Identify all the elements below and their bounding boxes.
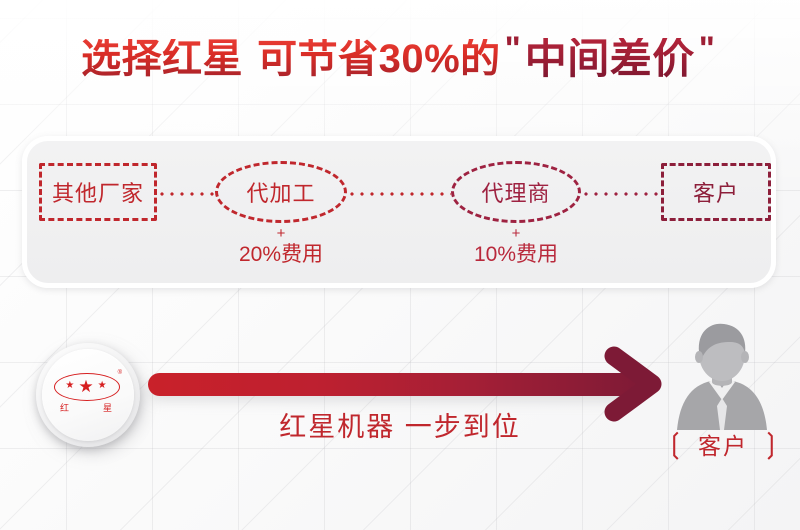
headline-part2: 可节省30%的 <box>257 39 501 79</box>
logo-stars-icon: ★ ★ ★ <box>54 374 118 398</box>
fee-oem: + 20%费用 <box>221 225 341 267</box>
fee-agent: + 10%费用 <box>456 225 576 267</box>
star-center-icon: ★ <box>78 378 93 395</box>
customer-label: ❲ 客户 ❳ <box>648 427 798 461</box>
quote-open-icon: " <box>505 30 521 69</box>
node-agent-label: 代理商 <box>481 176 550 208</box>
connector-2 <box>347 192 451 196</box>
star-left-icon: ★ <box>65 381 74 391</box>
chain-diagram: 其他厂家 代加工 代理商 客户 + 20%费用 + 10%费用 <box>27 141 781 283</box>
supply-chain-panel: 其他厂家 代加工 代理商 客户 + 20%费用 + 10%费用 <box>22 136 776 288</box>
bracket-left-icon: ❲ <box>664 430 687 458</box>
headline-emphasis: 中间差价 <box>525 38 695 80</box>
node-other-factory[interactable]: 其他厂家 <box>39 163 157 221</box>
customer-label-text: 客户 <box>698 427 748 461</box>
logo-word-left: 红 <box>60 401 69 414</box>
headline: 选择红星 可节省30%的 " 中间差价 " <box>0 28 800 90</box>
arrow-shaft <box>148 373 648 396</box>
connector-3 <box>581 192 661 196</box>
logo-inner-disc: ★ ★ ★ ® 红 星 <box>42 349 134 441</box>
arrow-head-icon <box>600 346 676 422</box>
bracket-right-icon: ❳ <box>759 430 782 458</box>
connector-1 <box>157 192 215 196</box>
customer-avatar-icon <box>668 318 776 430</box>
tagline: 红星机器 一步到位 <box>250 405 550 444</box>
promo-poster: 选择红星 可节省30%的 " 中间差价 " 其他厂家 代加工 代理商 客户 <box>0 0 800 530</box>
headline-part1: 选择红星 <box>81 39 243 79</box>
logo-outer-ring: ★ ★ ★ ® 红 星 <box>36 343 140 447</box>
node-customer[interactable]: 客户 <box>661 163 771 221</box>
registered-mark-icon: ® <box>118 370 122 376</box>
logo-word-right: 星 <box>103 401 112 414</box>
fee-agent-plus: + <box>456 225 576 242</box>
logo-wordmark: 红 星 <box>54 401 118 414</box>
node-oem-processing-label: 代加工 <box>246 176 315 208</box>
node-other-factory-label: 其他厂家 <box>52 176 144 208</box>
fee-oem-amount: 20%费用 <box>221 243 341 267</box>
fee-oem-plus: + <box>221 225 341 242</box>
fee-agent-amount: 10%费用 <box>456 243 576 267</box>
quote-close-icon: " <box>699 30 715 69</box>
star-right-icon: ★ <box>98 381 107 391</box>
node-agent[interactable]: 代理商 <box>451 161 581 223</box>
node-oem-processing[interactable]: 代加工 <box>215 161 347 223</box>
logo-mark: ★ ★ ★ ® 红 星 <box>50 369 126 421</box>
node-customer-label: 客户 <box>693 176 739 208</box>
brand-logo: ★ ★ ★ ® 红 星 <box>36 341 144 449</box>
